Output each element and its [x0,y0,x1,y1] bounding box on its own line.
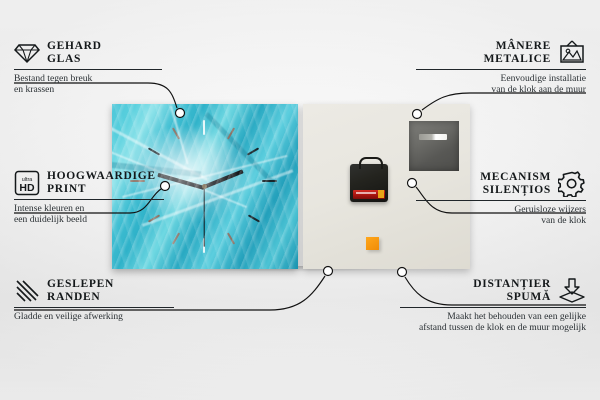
feature-rule [14,307,174,308]
feature-title-line-1: HOOGWAARDIGE [47,170,156,183]
feature-desc-line-2: afstand tussen de klok en de muur mogeli… [400,322,586,333]
feature-title-line-1: GESLEPEN [47,278,114,291]
feature-header: ultra HD HOOGWAARDIGE PRINT [14,170,194,196]
feature-title-line-1: DISTANȚIER [400,278,551,291]
feature-title-line-1: MECANISM [416,171,551,184]
feature-desc-line-1: Geruisloze wijzers [416,204,586,215]
clock-movement [350,164,388,202]
feature-title-line-2: GLAS [47,53,102,66]
feature-header: GESLEPEN RANDEN [14,278,192,304]
infographic-canvas: GEHARD GLAS Bestand tegen breuk en krass… [0,0,600,400]
feature-rule [14,69,162,70]
feature-title-line-2: SILENȚIOS [416,184,551,197]
feature-hoogwaardige-print[interactable]: ultra HD HOOGWAARDIGE PRINT Intense kleu… [14,170,194,226]
feature-header: MECANISM SILENȚIOS [416,170,586,197]
feature-title-line-1: GEHARD [47,40,102,53]
feature-geslepen-randen[interactable]: GESLEPEN RANDEN Gladde en veilige afwerk… [14,278,192,322]
beveled-edges-icon [14,279,40,303]
spacer-arrow-icon [558,278,586,304]
feature-title-line-1: MÂNERE [416,40,551,53]
hanging-frame-icon [558,40,586,66]
feature-desc-line-2: van de klok aan de muur [416,84,586,95]
svg-text:HD: HD [19,182,35,194]
feature-desc-line-1: Intense kleuren en [14,203,194,214]
feature-manere-metalice[interactable]: MÂNERE METALICE Eenvoudige installatie v… [416,40,586,96]
diamond-icon [14,42,40,64]
feature-distantier-spuma[interactable]: DISTANȚIER SPUMĂ Maakt het behouden van … [400,278,586,334]
feature-title-line-2: METALICE [416,53,551,66]
feature-header: GEHARD GLAS [14,40,184,66]
feature-title-line-2: PRINT [47,183,156,196]
feature-desc-line-1: Bestand tegen breuk [14,73,184,84]
feature-desc-line-1: Eenvoudige installatie [416,73,586,84]
feature-rule [416,69,586,70]
clock-center-hub [202,184,207,189]
feature-desc-line-1: Maakt het behouden van een gelijke [400,311,586,322]
metal-hanger-plate [409,121,459,171]
feature-title-line-2: RANDEN [47,291,114,304]
feature-rule [14,199,164,200]
hanger-slot [419,134,447,140]
feature-gehard-glas[interactable]: GEHARD GLAS Bestand tegen breuk en krass… [14,40,184,96]
feature-desc-line-2: een duidelijk beeld [14,214,194,225]
gear-icon [558,170,586,197]
feature-header: DISTANȚIER SPUMĂ [400,278,586,304]
ultra-hd-icon: ultra HD [14,170,40,196]
feature-desc-line-2: van de klok [416,215,586,226]
clock-second-hand [203,187,204,247]
battery [353,190,385,199]
feature-mecanism-silentios[interactable]: MECANISM SILENȚIOS Geruisloze wijzers va… [416,170,586,227]
feature-desc-line-2: en krassen [14,84,184,95]
feature-rule [416,200,586,201]
feature-title-line-2: SPUMĂ [400,291,551,304]
foam-spacer [366,237,379,250]
feature-rule [400,307,586,308]
feature-header: MÂNERE METALICE [416,40,586,66]
movement-bail [359,157,383,169]
feature-desc-line-1: Gladde en veilige afwerking [14,311,192,322]
